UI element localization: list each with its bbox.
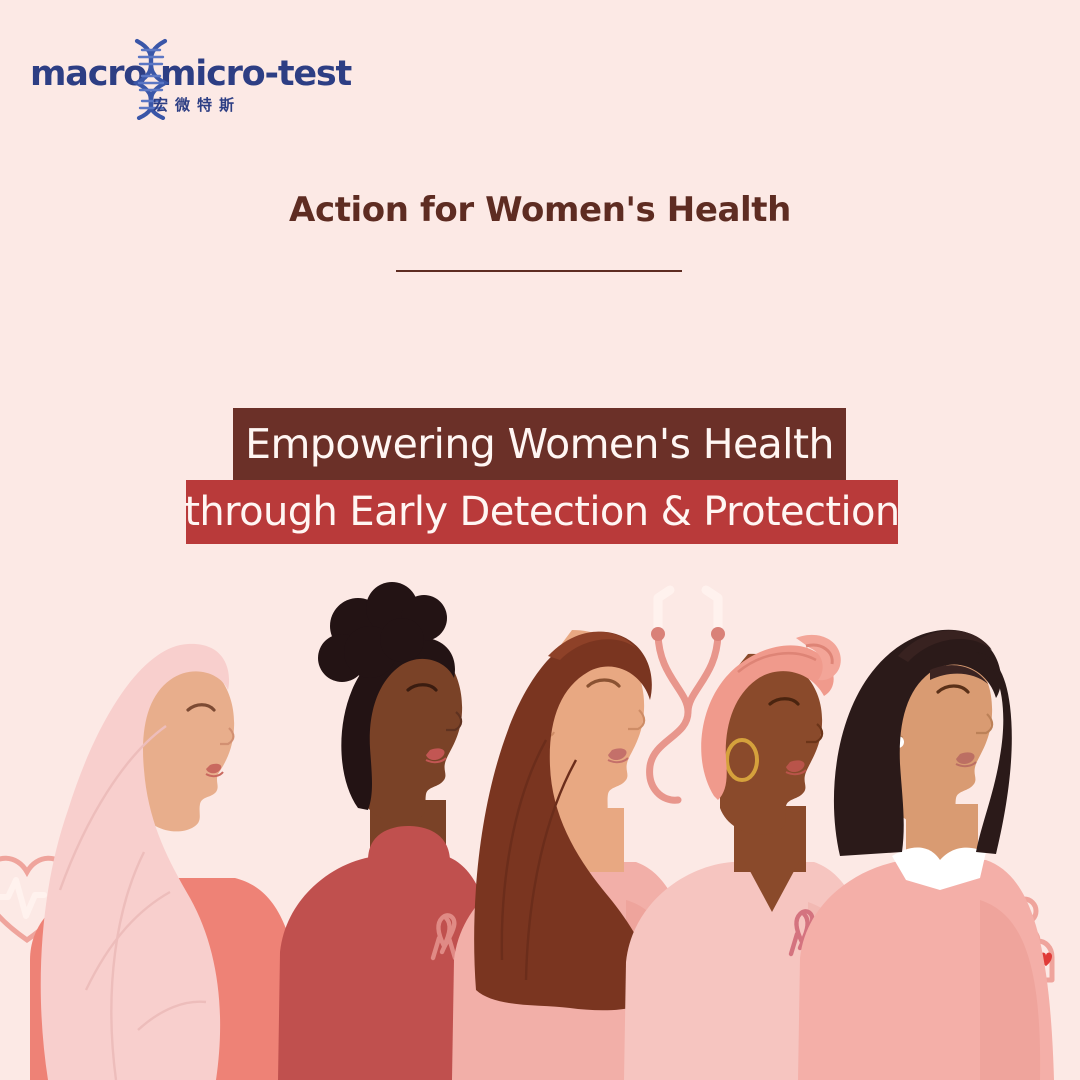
headline-line-2: through Early Detection & Protection bbox=[186, 480, 898, 544]
poster-canvas: macro micro-test 宏微特斯 Action for Women's… bbox=[0, 0, 1080, 1080]
illustration-women-group bbox=[0, 560, 1080, 1080]
headline-line-1: Empowering Women's Health bbox=[233, 408, 846, 480]
headline-band-primary: Empowering Women's Health bbox=[233, 408, 846, 480]
figure-woman-bob bbox=[780, 560, 1080, 1080]
headline-band-secondary: through Early Detection & Protection bbox=[186, 480, 898, 544]
brand-logo-chinese: 宏微特斯 bbox=[153, 94, 241, 115]
title-divider bbox=[396, 270, 682, 272]
page-title: Action for Women's Health bbox=[0, 190, 1080, 230]
brand-logo[interactable]: macro micro-test 宏微特斯 bbox=[30, 38, 300, 118]
brand-logo-word-microtest: micro-test bbox=[160, 54, 351, 94]
